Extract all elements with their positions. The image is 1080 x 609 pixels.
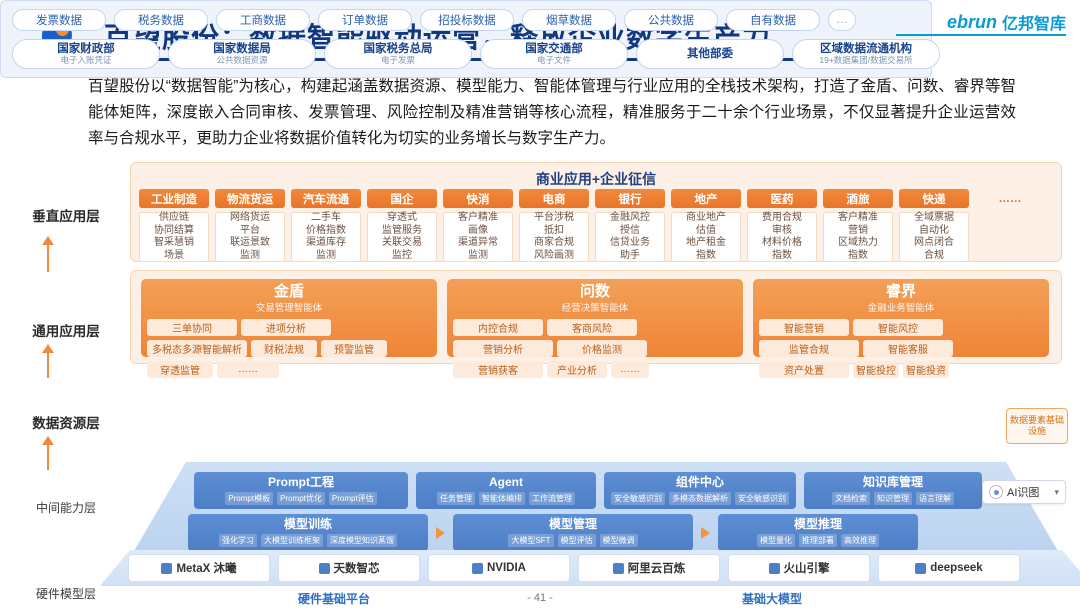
data-source-name: 国家财政部 [57,43,115,55]
data-chip[interactable]: … [828,9,856,31]
vertical-column: 汽车流通二手车价格指数渠道库存监测 [291,189,361,262]
capability-box[interactable]: 知识库管理文档检索知识管理语言理解 [804,472,982,509]
hardware-logo-label: 天数智芯 [334,560,380,576]
ai-sparkle-icon [989,485,1003,499]
hardware-logo-label: NVIDIA [487,562,526,574]
general-groups: 金盾交易管理智能体三单协同进项分析多税态多源智能解析财税法规预警监管穿透监管……… [141,279,1049,357]
vertical-column-head[interactable]: 物流货运 [215,189,285,208]
vertical-column-head[interactable]: …… [975,189,1045,208]
page-number: - 41 - [527,592,553,604]
agent-group-name: 问数 [453,283,737,300]
capability-chip: 智能体编排 [479,492,525,505]
deepseek-logo-icon [915,563,926,574]
vertical-item: 地产租金 [686,237,726,250]
capability-chips: 任务管理智能体编排工作流管理 [420,492,592,505]
vertical-column: 快递全域票据自动化网点闭合合规 [899,189,969,262]
vertical-column-items: 费用合规审核材料价格指数 [747,212,817,262]
brand-logo: ebrun 亿邦智库 [947,10,1066,34]
axis-label-general-app: 通用应用层 [10,320,122,340]
agent-chip[interactable]: 智能风控 [853,319,943,336]
vertical-column-items: 客户精准营销区域热力指数 [823,212,893,262]
vertical-item: 商家合规 [534,237,574,250]
hardware-logo-box[interactable]: 天数智芯 [278,554,420,582]
vertical-column-head[interactable]: 快消 [443,189,513,208]
hardware-logo-label: deepseek [930,562,982,574]
data-source-desc: 电子入账凭证 [60,55,111,65]
vertical-column-head[interactable]: 工业制造 [139,189,209,208]
data-chip[interactable]: 订单数据 [318,9,412,31]
agent-chip[interactable]: 产业分析 [547,361,607,378]
vertical-item: 风险画测 [534,250,574,263]
vertical-column-items: 全域票据自动化网点闭合合规 [899,212,969,262]
capability-chip: 多模态数据解析 [669,492,731,505]
metax-logo-icon [161,563,172,574]
vertical-item: 供应链 [159,212,189,225]
agent-chip[interactable]: 穿透监管 [147,361,213,378]
hardware-logo-box[interactable]: NVIDIA [428,554,570,582]
data-source-box[interactable]: 区域数据流通机构19+数据集团/数据交易所 [792,39,940,69]
capability-chips: 强化学习大模型训练框架深度模型知识蒸馏 [192,534,424,547]
capability-title: 模型管理 [457,517,689,531]
middle-row-2: 模型训练强化学习大模型训练框架深度模型知识蒸馏模型管理大模型SFT模型评估模型微… [188,514,918,551]
vertical-column: …… [975,189,1045,262]
data-chip[interactable]: 税务数据 [114,9,208,31]
hardware-logo-row: MetaX 沐曦天数智芯NVIDIA阿里云百炼火山引擎deepseek [128,554,1020,582]
capability-box[interactable]: 模型训练强化学习大模型训练框架深度模型知识蒸馏 [188,514,428,551]
data-chip[interactable]: 工商数据 [216,9,310,31]
capability-box[interactable]: Prompt工程Prompt模板Prompt优化Prompt评估 [194,472,408,509]
vertical-item: 区域热力 [838,237,878,250]
axis-arrow-2 [42,344,54,378]
vertical-item: 网点闭合 [914,237,954,250]
data-source-box[interactable]: 国家税务总局电子发票 [324,39,472,69]
vertical-column-head[interactable]: 银行 [595,189,665,208]
vertical-column: 医药费用合规审核材料价格指数 [747,189,817,262]
capability-box[interactable]: 组件中心安全敏感识别多模态数据解析安全敏感识别 [604,472,796,509]
agent-chip[interactable]: 进项分析 [241,319,331,336]
vertical-column-items: 平台涉税抵扣商家合规风险画测 [519,212,589,262]
capability-chip: 大模型SFT [508,534,553,547]
vertical-item: 商业地产 [686,212,726,225]
capability-chip: 推理部署 [799,534,837,547]
capability-box[interactable]: 模型管理大模型SFT模型评估模型微调 [453,514,693,551]
capability-chips: Prompt模板Prompt优化Prompt评估 [198,492,404,505]
capability-box[interactable]: 模型推理模型量化推理部署高效推理 [718,514,918,551]
vertical-item: 监管服务 [382,225,422,238]
agent-chip[interactable]: 智能投资 [903,361,949,378]
data-source-desc: 19+数据集团/数据交易所 [819,55,912,65]
vertical-item: 材料价格 [762,237,802,250]
capability-chip: 文档检索 [832,492,870,505]
brand-underline [896,34,1066,36]
vertical-column: 物流货运网络货运平台联运景致监测 [215,189,285,262]
data-chip[interactable]: 烟草数据 [522,9,616,31]
data-source-name: 国家交通部 [525,43,583,55]
vertical-item: 指数 [772,250,792,263]
vertical-column-head[interactable]: 电商 [519,189,589,208]
alibaba-cloud-logo-icon [613,563,624,574]
capability-chip: 模型评估 [558,534,596,547]
agent-group-subtitle: 交易管理智能体 [147,300,431,314]
capability-chip: 工作流管理 [529,492,575,505]
hardware-logo-box[interactable]: 火山引擎 [728,554,870,582]
agent-chip[interactable]: 财税法规 [251,340,317,357]
vertical-item: 客户精准 [458,212,498,225]
hardware-logo-label: 火山引擎 [784,560,830,576]
agent-group[interactable]: 金盾交易管理智能体三单协同进项分析多税态多源智能解析财税法规预警监管穿透监管…… [141,279,437,357]
data-source-name: 其他部委 [687,48,733,60]
vertical-item: 画像 [468,225,488,238]
vertical-columns: 工业制造供应链协同结算智采慧销场景物流货运网络货运平台联运景致监测汽车流通二手车… [139,189,1045,262]
capability-title: 模型训练 [192,517,424,531]
agent-chip[interactable]: 多税态多源智能解析 [147,340,247,357]
vertical-item: 抵扣 [544,225,564,238]
vertical-item: 智采慧销 [154,237,194,250]
data-source-desc: 电子文件 [537,55,571,65]
vertical-item: 信贷业务 [610,237,650,250]
hardware-logo-label: MetaX 沐曦 [176,560,236,576]
vertical-item: 审核 [772,225,792,238]
vertical-column-items: 商业地产估值地产租金指数 [671,212,741,262]
agent-chip[interactable]: 客商风险 [547,319,637,336]
capability-chips: 文档检索知识管理语言理解 [808,492,978,505]
vertical-item: 营销 [848,225,868,238]
agent-chip[interactable]: 预警监管 [321,340,387,357]
vertical-column-items: 网络货运平台联运景致监测 [215,212,285,262]
data-source-name: 区域数据流通机构 [820,43,912,55]
capability-chip: Prompt模板 [225,492,273,505]
general-application-panel: 金盾交易管理智能体三单协同进项分析多税态多源智能解析财税法规预警监管穿透监管……… [130,270,1062,364]
data-source-box[interactable]: 国家财政部电子入账凭证 [12,39,160,69]
data-source-desc: 电子发票 [381,55,415,65]
flow-arrow-icon [701,527,710,539]
vertical-column: 快消客户精准画像渠道异常监测 [443,189,513,262]
vertical-column-head[interactable]: 地产 [671,189,741,208]
capability-chip: 模型微调 [600,534,638,547]
vertical-column-head[interactable]: 酒旅 [823,189,893,208]
data-source-box[interactable]: 其他部委 [636,39,784,69]
capability-chip: 安全敏感识别 [735,492,789,505]
axis-label-vertical-app: 垂直应用层 [10,205,122,225]
vertical-column-items: 穿透式监管服务关联交易监控 [367,212,437,262]
volcano-engine-logo-icon [769,563,780,574]
capability-chips: 安全敏感识别多模态数据解析安全敏感识别 [608,492,792,505]
agent-chip[interactable]: 智能营销 [759,319,849,336]
agent-chip[interactable]: 智能投控 [853,361,899,378]
capability-chips: 模型量化推理部署高效推理 [722,534,914,547]
axis-arrow-1 [42,236,54,272]
capability-chip: Prompt评估 [329,492,377,505]
data-resource-panel: 发票数据税务数据工商数据订单数据招投标数据烟草数据公共数据自有数据… 国家财政部… [0,0,932,78]
vertical-column-head[interactable]: 汽车流通 [291,189,361,208]
vertical-item: 自动化 [919,225,949,238]
vertical-column: 酒旅客户精准营销区域热力指数 [823,189,893,262]
vertical-column-items: 二手车价格指数渠道库存监测 [291,212,361,262]
vertical-item: 二手车 [311,212,341,225]
capability-chip: 强化学习 [219,534,257,547]
vertical-item: 指数 [848,250,868,263]
axis-label-data-resource: 数据资源层 [10,412,122,432]
capability-chip: 大模型训练框架 [261,534,323,547]
data-infrastructure-note: 数据要素基础设施 [1006,408,1068,444]
brand-name-cn: 亿邦智库 [1002,10,1066,34]
capability-title: Prompt工程 [198,475,404,489]
agent-chip[interactable]: …… [611,361,649,378]
data-chip[interactable]: 公共数据 [624,9,718,31]
data-source-name: 国家数据局 [213,43,271,55]
vertical-item: 客户精准 [838,212,878,225]
agent-group[interactable]: 睿界金融业务智能体智能营销智能风控监管合规智能客服资产处置智能投控智能投资 [753,279,1049,357]
agent-chip[interactable]: 资产处置 [759,361,849,378]
hardware-logo-label: 阿里云百炼 [628,560,686,576]
ai-recognize-label: AI识图 [1007,484,1039,500]
vertical-column-head[interactable]: 国企 [367,189,437,208]
vertical-application-panel: 商业应用+企业征信 工业制造供应链协同结算智采慧销场景物流货运网络货运平台联运景… [130,162,1062,262]
capability-chips: 大模型SFT模型评估模型微调 [457,534,689,547]
agent-chip[interactable]: …… [217,361,279,378]
nvidia-logo-icon [472,563,483,574]
agent-chip[interactable]: 价格监测 [557,340,647,357]
vertical-item: 价格指数 [306,225,346,238]
agent-chip[interactable]: 三单协同 [147,319,237,336]
capability-title: 模型推理 [722,517,914,531]
vertical-item: 监测 [316,250,336,263]
vertical-item: 联运景致 [230,237,270,250]
vertical-column-items: 金融风控授信信贷业务助手 [595,212,665,262]
vertical-column-items: 客户精准画像渠道异常监测 [443,212,513,262]
vertical-layer-title: 商业应用+企业征信 [131,169,1061,189]
agent-chip-grid: 内控合规客商风险营销分析价格监测营销获客产业分析…… [453,319,737,378]
vertical-column: 国企穿透式监管服务关联交易监控 [367,189,437,262]
axis-label-hardware-model: 硬件模型层 [10,585,122,602]
hardware-logo-box[interactable]: MetaX 沐曦 [128,554,270,582]
vertical-item: 助手 [620,250,640,263]
data-chip[interactable]: 发票数据 [12,9,106,31]
capability-chip: 语言理解 [916,492,954,505]
vertical-item: 监控 [392,250,412,263]
vertical-item: 指数 [696,250,716,263]
middle-row-1: Prompt工程Prompt模板Prompt优化Prompt评估Agent任务管… [194,472,982,509]
vertical-item: 平台涉税 [534,212,574,225]
vertical-item: 场景 [164,250,184,263]
agent-chip-grid: 三单协同进项分析多税态多源智能解析财税法规预警监管穿透监管…… [147,319,431,378]
vertical-item: 金融风控 [610,212,650,225]
capability-chip: 安全敏感识别 [611,492,665,505]
chevron-down-icon[interactable]: ▾ [1054,487,1059,498]
vertical-column-head[interactable]: 医药 [747,189,817,208]
data-source-name: 国家税务总局 [364,43,433,55]
capability-chip: 深度模型知识蒸馏 [327,534,397,547]
vertical-item: 关联交易 [382,237,422,250]
capability-title: Agent [420,475,592,489]
data-source-box[interactable]: 国家数据局公共数据资源 [168,39,316,69]
middle-capability-layer: Prompt工程Prompt模板Prompt优化Prompt评估Agent任务管… [130,462,1062,558]
capability-chip: 高效推理 [841,534,879,547]
flow-arrow-icon [436,527,445,539]
vertical-column-head[interactable]: 快递 [899,189,969,208]
capability-chip: Prompt优化 [277,492,325,505]
data-chip-row: 发票数据税务数据工商数据订单数据招投标数据烟草数据公共数据自有数据… [12,9,856,31]
hardware-logo-box[interactable]: deepseek [878,554,1020,582]
agent-chip[interactable]: 监管合规 [759,340,859,357]
data-chip[interactable]: 自有数据 [726,9,820,31]
agent-group-name: 金盾 [147,283,431,300]
agent-group[interactable]: 问数经营决策智能体内控合规客商风险营销分析价格监测营销获客产业分析…… [447,279,743,357]
vertical-item: 平台 [240,225,260,238]
vertical-column: 电商平台涉税抵扣商家合规风险画测 [519,189,589,262]
agent-chip[interactable]: 智能客服 [863,340,953,357]
vertical-item: 估值 [696,225,716,238]
capability-chip: 知识管理 [874,492,912,505]
agent-group-subtitle: 经营决策智能体 [453,300,737,314]
agent-chip[interactable]: 营销分析 [453,340,553,357]
data-chip[interactable]: 招投标数据 [420,9,514,31]
vertical-item: 渠道库存 [306,237,346,250]
capability-chip: 模型量化 [757,534,795,547]
data-source-box[interactable]: 国家交通部电子文件 [480,39,628,69]
ai-recognize-button[interactable]: AI识图 ▾ [982,480,1066,504]
axis-arrow-3 [42,436,54,470]
agent-group-name: 睿界 [759,283,1043,300]
vertical-item: 监测 [240,250,260,263]
hardware-logo-box[interactable]: 阿里云百炼 [578,554,720,582]
vertical-item: 全域票据 [914,212,954,225]
iluvatar-logo-icon [319,563,330,574]
vertical-item: 协同结算 [154,225,194,238]
intro-paragraph: 百望股份以“数据智能”为核心，构建起涵盖数据资源、模型能力、智能体管理与行业应用… [88,74,1016,152]
agent-chip-grid: 智能营销智能风控监管合规智能客服资产处置智能投控智能投资 [759,319,1043,378]
vertical-item: 渠道异常 [458,237,498,250]
vertical-item: 合规 [924,250,944,263]
hardware-platform-caption: 硬件基础平台 [298,590,370,607]
capability-box[interactable]: Agent任务管理智能体编排工作流管理 [416,472,596,509]
vertical-item: 授信 [620,225,640,238]
agent-group-subtitle: 金融业务智能体 [759,300,1043,314]
capability-title: 知识库管理 [808,475,978,489]
vertical-column: 银行金融风控授信信贷业务助手 [595,189,665,262]
axis-label-middle-capability: 中间能力层 [10,499,122,516]
vertical-column: 工业制造供应链协同结算智采慧销场景 [139,189,209,262]
agent-chip[interactable]: 内控合规 [453,319,543,336]
vertical-item: 监测 [468,250,488,263]
agent-chip[interactable]: 营销获客 [453,361,543,378]
capability-title: 组件中心 [608,475,792,489]
base-model-caption: 基础大模型 [742,590,802,607]
data-source-row: 国家财政部电子入账凭证国家数据局公共数据资源国家税务总局电子发票国家交通部电子文… [12,39,940,69]
vertical-item: 穿透式 [387,212,417,225]
brand-name-en: ebrun [947,12,997,33]
data-source-desc: 公共数据资源 [216,55,267,65]
vertical-item: 网络货运 [230,212,270,225]
vertical-column: 地产商业地产估值地产租金指数 [671,189,741,262]
vertical-item: 费用合规 [762,212,802,225]
vertical-column-items: 供应链协同结算智采慧销场景 [139,212,209,262]
capability-chip: 任务管理 [437,492,475,505]
